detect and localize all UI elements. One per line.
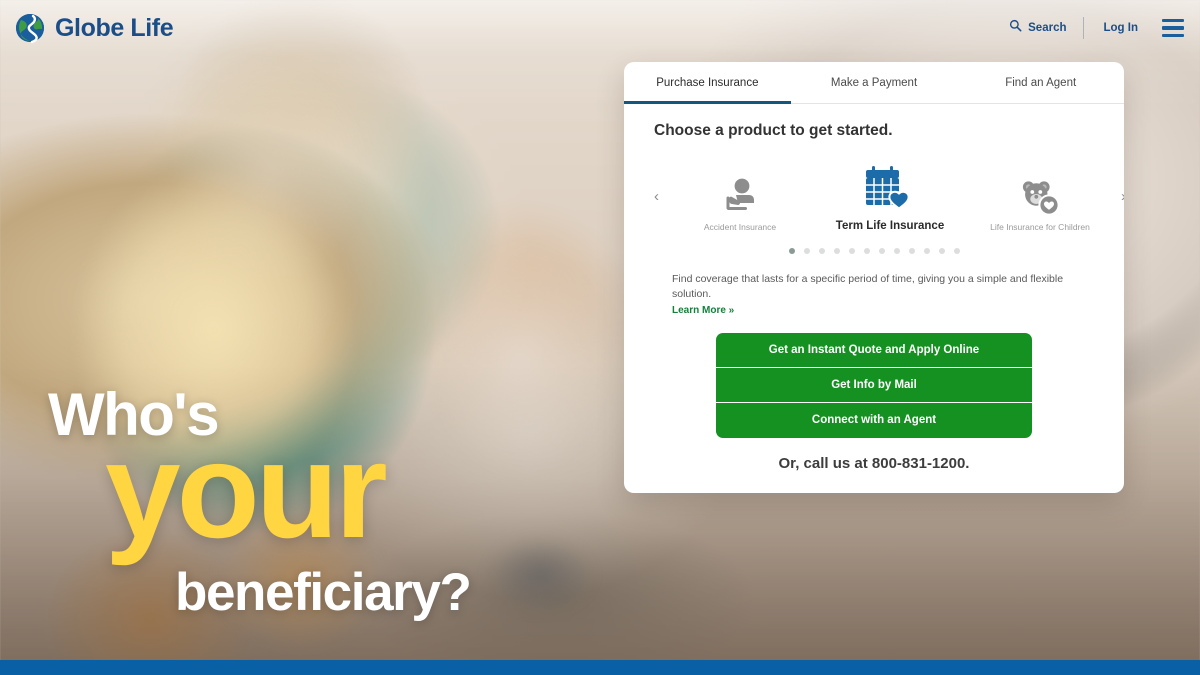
- card-body: Choose a product to get started. ‹: [624, 104, 1124, 472]
- search-icon: [1009, 19, 1022, 37]
- header-nav: Search Log In: [993, 17, 1184, 39]
- carousel-dot[interactable]: [924, 248, 930, 254]
- card-tabs: Purchase Insurance Make a Payment Find a…: [624, 62, 1124, 104]
- carousel-item-label: Life Insurance for Children: [990, 222, 1090, 232]
- header-divider: [1083, 17, 1084, 39]
- card-title: Choose a product to get started.: [654, 122, 1094, 140]
- carousel-dot[interactable]: [834, 248, 840, 254]
- product-description-block: Find coverage that lasts for a specific …: [654, 272, 1094, 319]
- call-us-text: Or, call us at 800-831-1200.: [654, 455, 1094, 472]
- carousel-dots: [654, 248, 1094, 254]
- carousel-item-label: Accident Insurance: [704, 222, 776, 232]
- carousel-item-accident-insurance[interactable]: Accident Insurance: [665, 173, 815, 232]
- carousel-items: Accident Insurance: [659, 161, 1121, 232]
- hamburger-bar: [1162, 34, 1184, 37]
- person-with-arm-sling-icon: [723, 173, 757, 217]
- carousel-dot[interactable]: [864, 248, 870, 254]
- calendar-heart-icon: [864, 161, 916, 215]
- hamburger-menu-icon[interactable]: [1158, 19, 1184, 37]
- carousel-dot[interactable]: [819, 248, 825, 254]
- get-info-by-mail-button[interactable]: Get Info by Mail: [716, 368, 1032, 403]
- carousel-item-term-life-insurance[interactable]: Term Life Insurance: [815, 161, 965, 232]
- connect-with-agent-button[interactable]: Connect with an Agent: [716, 403, 1032, 438]
- carousel-dot[interactable]: [939, 248, 945, 254]
- hamburger-bar: [1162, 19, 1184, 22]
- learn-more-link[interactable]: Learn More »: [672, 304, 734, 319]
- brand-name: Globe Life: [55, 14, 173, 43]
- site-header: Globe Life Search Log In: [0, 0, 1200, 56]
- globe-logo-icon: [14, 12, 46, 44]
- carousel-dot[interactable]: [789, 248, 795, 254]
- tab-find-an-agent[interactable]: Find an Agent: [957, 62, 1124, 103]
- tab-make-a-payment[interactable]: Make a Payment: [791, 62, 958, 103]
- carousel-dot[interactable]: [894, 248, 900, 254]
- tab-purchase-insurance[interactable]: Purchase Insurance: [624, 62, 791, 103]
- search-label: Search: [1028, 22, 1066, 34]
- product-carousel: ‹ Accident Insurance: [654, 160, 1094, 232]
- hamburger-bar: [1162, 26, 1184, 29]
- carousel-dot[interactable]: [909, 248, 915, 254]
- carousel-dot[interactable]: [804, 248, 810, 254]
- carousel-dot[interactable]: [954, 248, 960, 254]
- login-button[interactable]: Log In: [1084, 22, 1159, 34]
- quote-card: Purchase Insurance Make a Payment Find a…: [624, 62, 1124, 493]
- get-instant-quote-button[interactable]: Get an Instant Quote and Apply Online: [716, 333, 1032, 368]
- carousel-item-life-insurance-for-children[interactable]: Life Insurance for Children: [965, 173, 1115, 232]
- headline-line-2: your: [105, 422, 384, 558]
- carousel-dot[interactable]: [879, 248, 885, 254]
- cta-button-group: Get an Instant Quote and Apply Online Ge…: [716, 333, 1032, 438]
- chevron-right-icon[interactable]: ›: [1121, 188, 1124, 205]
- footer-bar: [0, 660, 1200, 675]
- product-description: Find coverage that lasts for a specific …: [672, 273, 1063, 300]
- page-root: Globe Life Search Log In Who: [0, 0, 1200, 675]
- carousel-item-label: Term Life Insurance: [836, 220, 944, 232]
- teddy-bear-heart-icon: [1020, 173, 1060, 217]
- carousel-dot[interactable]: [849, 248, 855, 254]
- brand-logo[interactable]: Globe Life: [14, 12, 173, 44]
- search-button[interactable]: Search: [993, 19, 1082, 37]
- headline-line-3: beneficiary?: [175, 562, 470, 623]
